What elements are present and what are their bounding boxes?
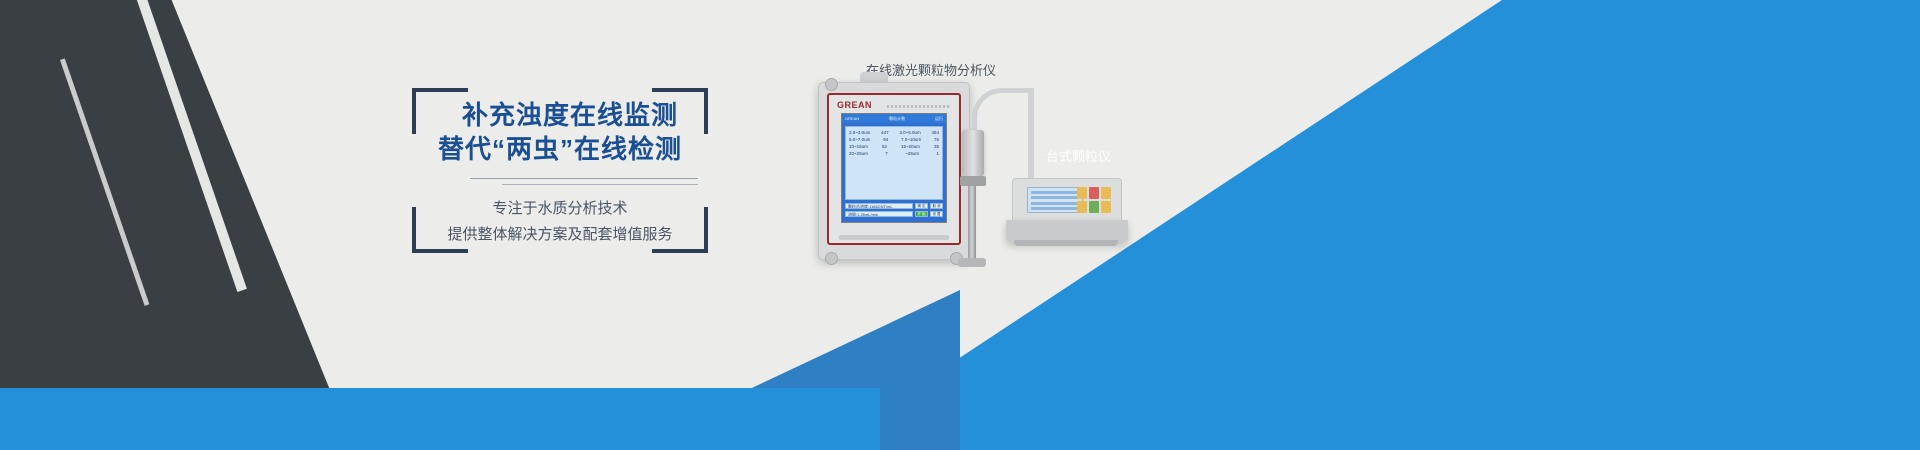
cell: 10~15um — [849, 143, 868, 150]
screen-data-row: 5.0~7.0um 94 7.0~10um 76 — [849, 136, 939, 143]
cell: 76 — [934, 136, 939, 143]
divider-line-lower — [502, 184, 698, 185]
screen-title-left: GREAN — [845, 116, 859, 121]
bench-screen-line — [1031, 202, 1079, 205]
bench-upper-housing — [1012, 178, 1122, 222]
online-analyzer-device: GREAN GREAN 颗粒计数 运行 2.0~3.0um 447 3.0~5.… — [818, 82, 970, 260]
concentration-field: 颗粒总浓度:1166CNT/mL — [845, 203, 913, 209]
cell: 5.0~7.0um — [849, 136, 870, 143]
cell: 3.0~5.0um — [899, 129, 920, 136]
screen-field-row: 流量:1.26mL/min 开 始 设 置 — [845, 211, 943, 217]
background-blue-strip — [0, 388, 880, 450]
screen-data-grid: 2.0~3.0um 447 3.0~5.0um 454 5.0~7.0um 94… — [845, 126, 943, 200]
headline-line-1: 补充浊度在线监测 — [400, 98, 720, 132]
sample-tube-down — [1028, 92, 1034, 188]
screen-title-center: 颗粒计数 — [889, 116, 905, 122]
screen-data-row: 2.0~3.0um 447 3.0~5.0um 454 — [849, 129, 939, 136]
bench-key[interactable] — [1077, 187, 1087, 199]
bench-key[interactable] — [1101, 187, 1111, 199]
flow-field: 流量:1.26mL/min — [845, 211, 913, 217]
headline-block: 补充浊度在线监测 替代“两虫”在线检测 专注于水质分析技术 提供整体解决方案及配… — [412, 88, 708, 253]
analyzer-port-knob — [825, 78, 838, 91]
cell: 447 — [881, 129, 889, 136]
sensor-cylinder — [962, 130, 984, 176]
headline: 补充浊度在线监测 替代“两虫”在线检测 — [400, 98, 720, 166]
screen-controls: 颗粒总浓度:1166CNT/mL 确 定 取 消 流量:1.26mL/min 开… — [845, 203, 943, 219]
cell: 94 — [883, 136, 888, 143]
divider-line-upper — [470, 178, 698, 179]
bench-base — [1006, 220, 1128, 242]
analyzer-screen[interactable]: GREAN 颗粒计数 运行 2.0~3.0um 447 3.0~5.0um 45… — [841, 113, 947, 223]
bench-key[interactable] — [1089, 187, 1099, 199]
screen-button[interactable]: 取 消 — [930, 203, 943, 209]
cell: 35 — [934, 143, 939, 150]
cell: 52 — [882, 143, 887, 150]
headline-line-2: 替代“两虫”在线检测 — [400, 132, 720, 166]
cell: 7 — [885, 150, 888, 157]
cell: ~25um — [905, 150, 919, 157]
subtitle-line-1: 专注于水质分析技术 — [400, 196, 720, 222]
analyzer-panel-foot — [839, 235, 949, 240]
bench-key[interactable] — [1101, 201, 1111, 213]
bench-screen[interactable] — [1027, 187, 1083, 213]
decor-streak — [60, 58, 149, 305]
promo-banner: 补充浊度在线监测 替代“两虫”在线检测 专注于水质分析技术 提供整体解决方案及配… — [0, 0, 1920, 450]
screen-button[interactable]: 设 置 — [930, 211, 943, 217]
cell: 454 — [931, 129, 939, 136]
analyzer-enclosure: GREAN GREAN 颗粒计数 运行 2.0~3.0um 447 3.0~5.… — [818, 82, 970, 260]
bench-screen-line — [1031, 207, 1079, 210]
screen-field-row: 颗粒总浓度:1166CNT/mL 确 定 取 消 — [845, 203, 943, 209]
analyzer-front-panel: GREAN GREAN 颗粒计数 运行 2.0~3.0um 447 3.0~5.… — [827, 93, 961, 245]
cell: 15~20um — [901, 143, 920, 150]
divider — [470, 178, 698, 185]
support-rod-foot — [958, 258, 986, 267]
sensor-cylinder-cap — [960, 176, 986, 186]
bench-key[interactable] — [1089, 201, 1099, 213]
bench-foot — [1014, 240, 1118, 246]
cell: 7.0~10um — [901, 136, 921, 143]
subtitle: 专注于水质分析技术 提供整体解决方案及配套增值服务 — [400, 196, 720, 248]
subtitle-line-2: 提供整体解决方案及配套增值服务 — [400, 222, 720, 248]
screen-title-bar: GREAN 颗粒计数 运行 — [842, 114, 946, 123]
screen-data-row: 20~25um 7 ~25um 1 — [849, 150, 939, 157]
bench-screen-line — [1031, 191, 1079, 194]
analyzer-brand-label: GREAN — [837, 100, 872, 110]
cell: 1 — [936, 150, 939, 157]
bench-key[interactable] — [1077, 201, 1087, 213]
screen-title-right: 运行 — [935, 116, 943, 122]
screen-button[interactable]: 开 始 — [915, 211, 928, 217]
bench-keypad[interactable] — [1077, 187, 1111, 213]
cell: 20~25um — [849, 150, 868, 157]
analyzer-port-knob — [825, 252, 838, 265]
bench-analyzer-device — [1006, 178, 1128, 252]
screen-data-row: 10~15um 52 15~20um 35 — [849, 143, 939, 150]
screen-button[interactable]: 确 定 — [915, 203, 928, 209]
analyzer-brand-rule — [887, 105, 951, 108]
support-rod — [968, 186, 976, 264]
cell: 2.0~3.0um — [849, 129, 870, 136]
bench-screen-line — [1031, 196, 1079, 199]
